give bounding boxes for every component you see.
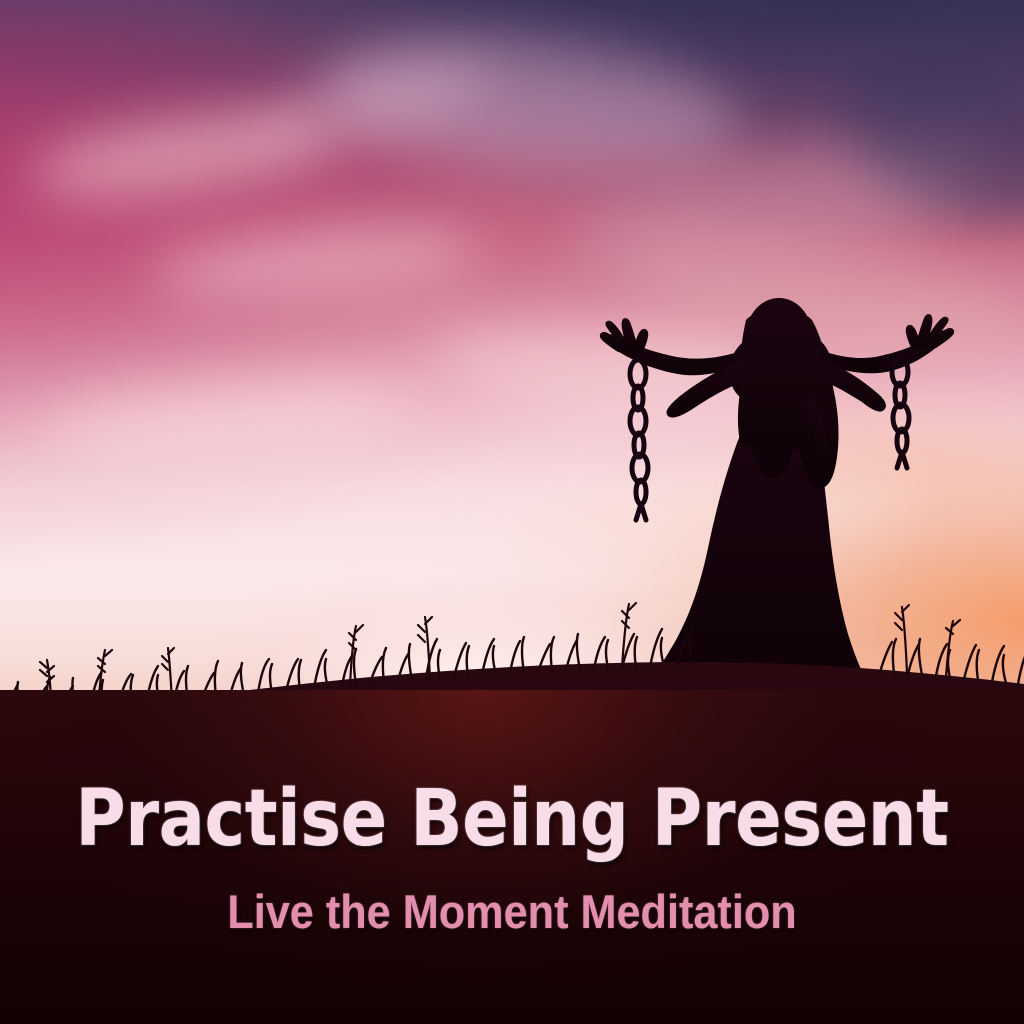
- sun-glow: [0, 0, 1024, 740]
- meditation-poster: Practise Being Present Live the Moment M…: [0, 0, 1024, 1024]
- page-title: Practise Being Present: [61, 780, 962, 858]
- sunset-clouds-icon: [0, 0, 1024, 740]
- text-block: Practise Being Present Live the Moment M…: [0, 780, 1024, 935]
- page-subtitle: Live the Moment Meditation: [41, 888, 983, 935]
